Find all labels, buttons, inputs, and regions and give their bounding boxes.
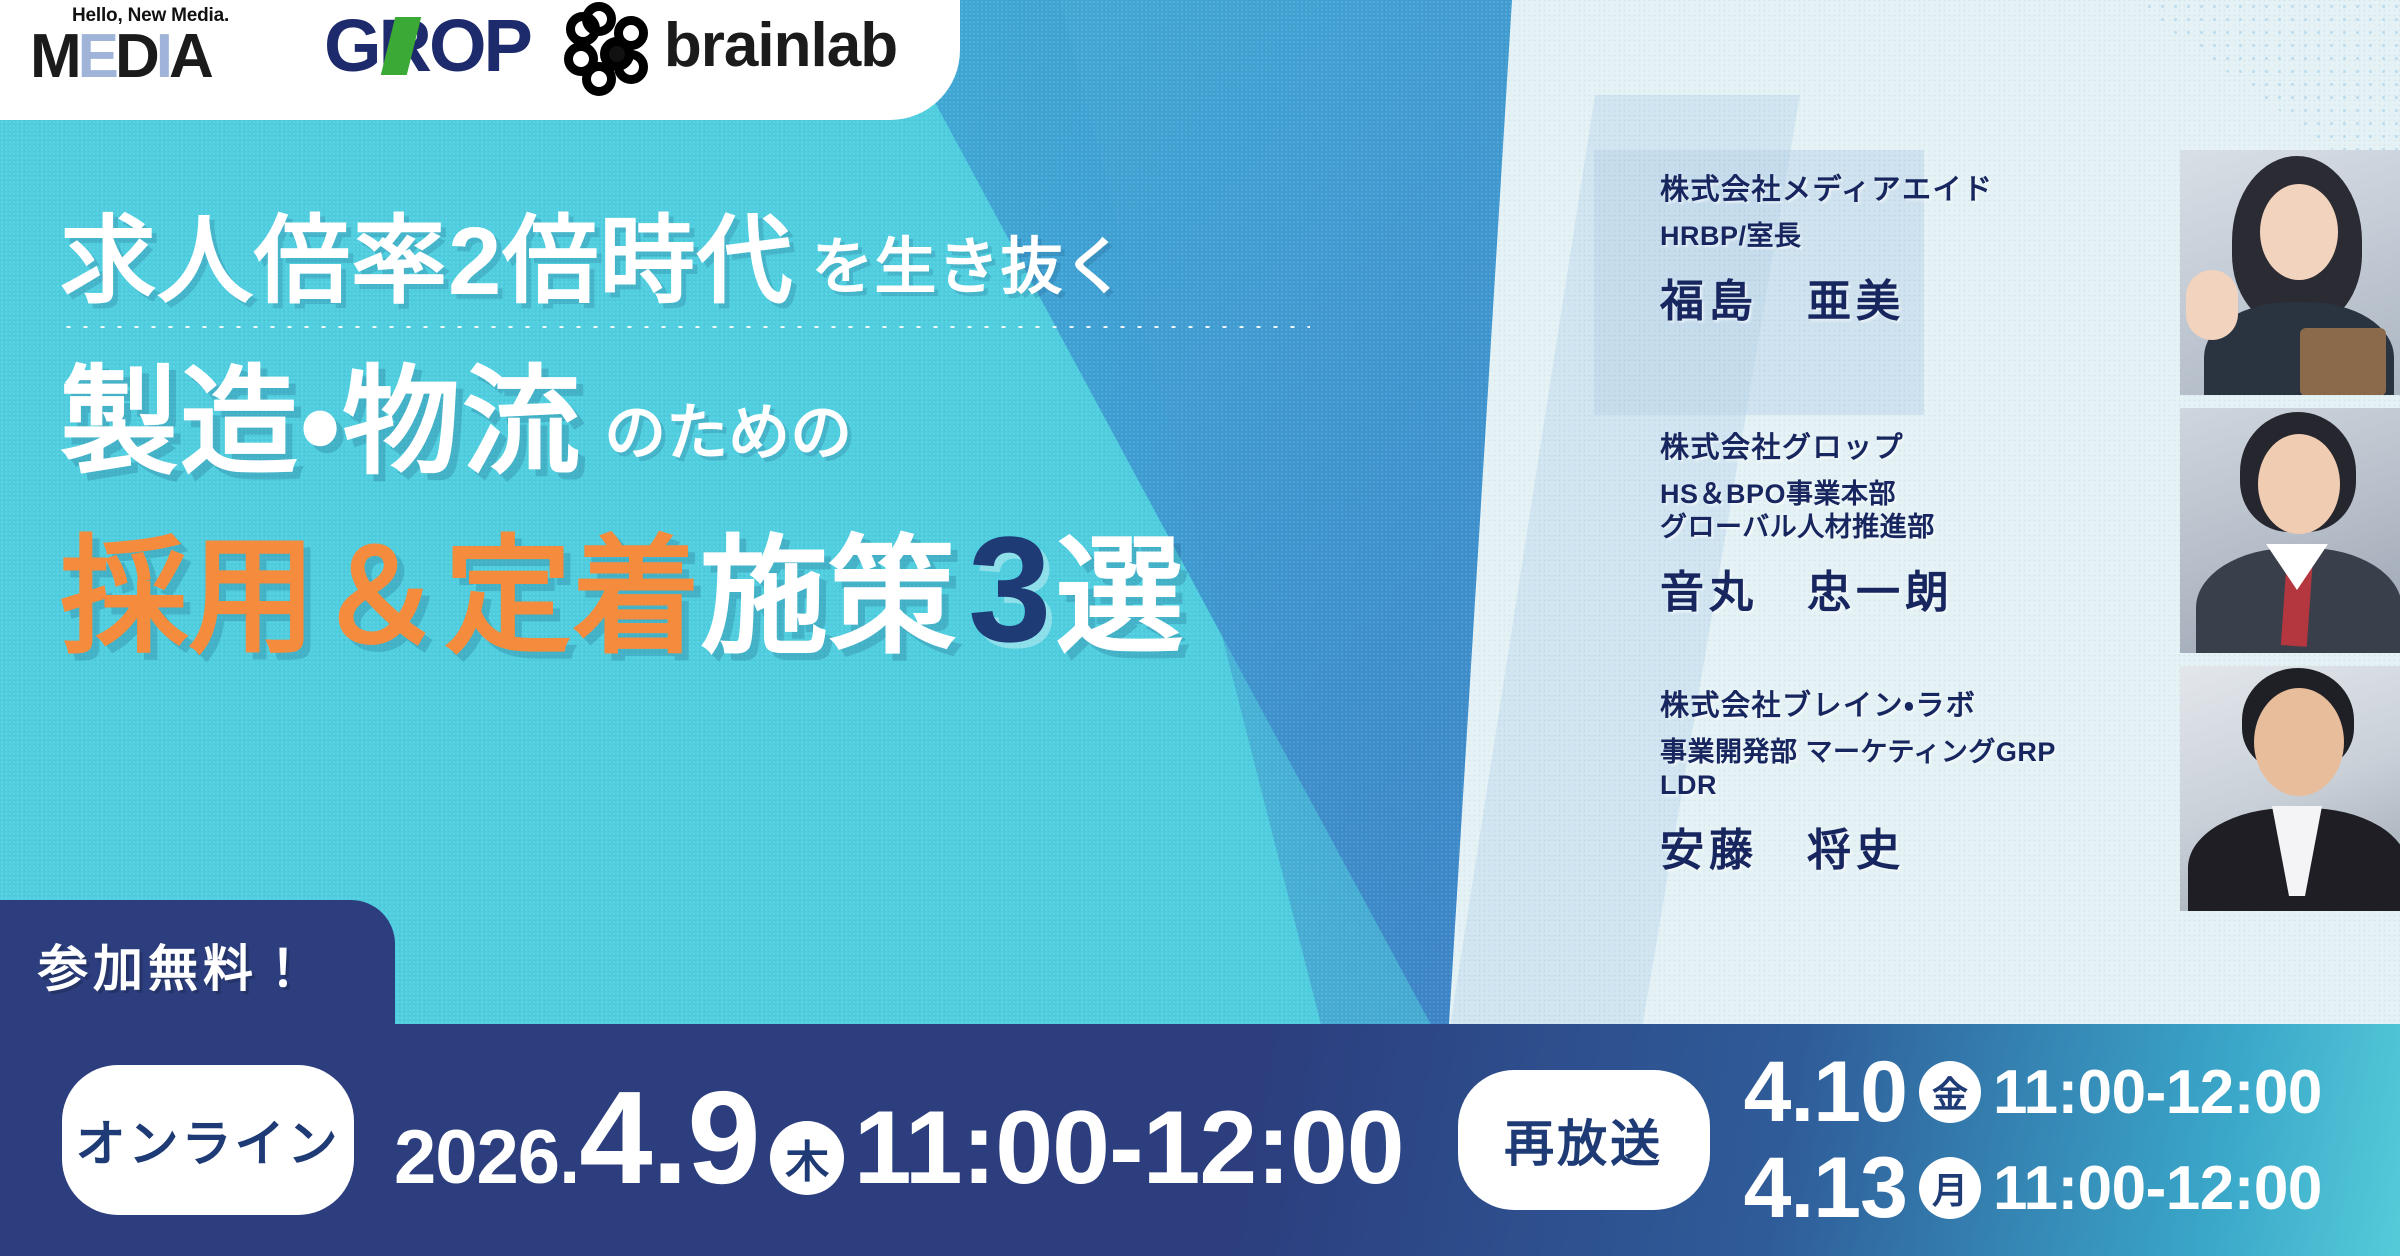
rerun-row-1: 4.10 金 11:00-12:00 [1744, 1044, 2322, 1140]
speaker-1-text: 株式会社メディアエイド HRBP/室長 福島 亜美 [1660, 166, 2130, 329]
speaker-1-clipboard [2300, 328, 2386, 395]
rerun-1-time: 11:00-12:00 [1993, 1057, 2322, 1128]
main-session-year: 2026. [394, 1114, 579, 1201]
rerun-1-date: 4.10 [1744, 1049, 1907, 1135]
speaker-2-text: 株式会社グロップ HS＆BPO事業本部 グローバル人材推進部 音丸 忠一朗 [1660, 424, 2130, 620]
speaker-3-role-line2: LDR [1660, 769, 2130, 802]
speaker-3-photo [2180, 666, 2400, 911]
speaker-3-text: 株式会社ブレイン・ラボ 事業開発部 マーケティングGRP LDR 安藤 将史 [1660, 682, 2130, 878]
grop-logo-text: GROP [324, 4, 530, 87]
speaker-1-hand [2186, 270, 2238, 340]
speaker-card-3: 株式会社ブレイン・ラボ 事業開発部 マーケティングGRP LDR 安藤 将史 [1650, 666, 2400, 924]
speaker-3-company: 株式会社ブレイン・ラボ [1660, 682, 2130, 724]
rerun-2-time: 11:00-12:00 [1993, 1153, 2322, 1224]
headline-line-1: 求人倍率2倍時代 を生き抜く [60, 210, 1480, 314]
headline-line-3: 採用＆定着 施策 3 選 [60, 514, 1480, 664]
speaker-2-role-line1: HS＆BPO事業本部 [1660, 478, 2130, 511]
brainlab-petal-red [564, 42, 598, 76]
dotted-underline [60, 324, 1310, 330]
webinar-banner: Hello, New Media. MEDIA GROP brainlab [0, 0, 2400, 1256]
brainlab-flower-icon [564, 2, 650, 88]
speaker-3-role-line1: 事業開発部 マーケティングGRP [1660, 736, 2130, 769]
rerun-2-date: 4.13 [1744, 1145, 1907, 1231]
media-aid-logo: Hello, New Media. MEDIA [30, 0, 290, 91]
speaker-card-2: 株式会社グロップ HS＆BPO事業本部 グローバル人材推進部 音丸 忠一朗 [1650, 408, 2400, 666]
headline-line3-orange: 採用＆定着 [60, 534, 700, 662]
speaker-1-company: 株式会社メディアエイド [1660, 166, 2130, 208]
speaker-card-1: 株式会社メディアエイド HRBP/室長 福島 亜美 [1650, 150, 2400, 408]
speaker-1-role: HRBP/室長 [1660, 220, 2130, 253]
headline-line-2: 製造・物流 のための [60, 364, 1480, 482]
speaker-2-name: 音丸 忠一朗 [1660, 556, 2130, 620]
main-session-date: 2026. 4.9 木 11:00-12:00 [394, 1072, 1404, 1208]
online-badge: オンライン [62, 1065, 354, 1215]
speaker-2-role-line2: グローバル人材推進部 [1660, 511, 2130, 544]
headline-block: 求人倍率2倍時代 を生き抜く 製造・物流 のための 採用＆定着 施策 3 選 [60, 210, 1480, 664]
headline-line3-tail: 選 [1055, 534, 1183, 662]
rerun-1-dayofweek: 金 [1919, 1061, 1981, 1123]
rerun-date-list: 4.10 金 11:00-12:00 4.13 月 11:00-12:00 [1744, 1044, 2322, 1236]
headline-line2-main: 製造・物流 [60, 364, 582, 482]
speaker-2-face [2258, 434, 2340, 534]
headline-line2-suffix: のための [604, 382, 852, 482]
headline-line1-suffix: を生き抜く [811, 216, 1126, 314]
grop-logo: GROP [324, 3, 530, 88]
media-logo-wordmark: MEDIA [30, 21, 210, 92]
speaker-1-photo [2180, 150, 2400, 395]
brainlab-center-dot [600, 37, 634, 71]
free-participation-label: 参加無料！ [38, 929, 313, 1001]
speaker-list: 株式会社メディアエイド HRBP/室長 福島 亜美 株式会社グロップ HS＆BP… [1650, 150, 2400, 924]
headline-line1-main: 求人倍率2倍時代 [60, 210, 793, 314]
free-participation-badge: 参加無料！ [0, 900, 395, 1030]
main-session-dayofweek: 木 [770, 1121, 844, 1195]
speaker-2-company: 株式会社グロップ [1660, 424, 2130, 466]
brainlab-petal-tan [566, 12, 600, 46]
main-session-monthday: 4.9 [579, 1072, 760, 1204]
speaker-1-face [2260, 184, 2338, 280]
speaker-3-face [2254, 688, 2344, 796]
rerun-badge: 再放送 [1458, 1070, 1710, 1210]
speaker-1-name: 福島 亜美 [1660, 265, 2130, 329]
headline-line3-white: 施策 [700, 534, 956, 662]
headline-line3-number: 3 [968, 514, 1051, 664]
rerun-badge-label: 再放送 [1504, 1104, 1663, 1176]
brainlab-logo-text: brainlab [664, 10, 897, 81]
speaker-2-photo [2180, 408, 2400, 653]
rerun-2-dayofweek: 月 [1919, 1157, 1981, 1219]
main-session-time: 11:00-12:00 [854, 1089, 1404, 1208]
logo-bar: Hello, New Media. MEDIA GROP brainlab [0, 0, 960, 120]
rerun-row-2: 4.13 月 11:00-12:00 [1744, 1140, 2322, 1236]
media-logo-text: MEDIA [30, 22, 210, 91]
schedule-bar: オンライン 2026. 4.9 木 11:00-12:00 再放送 4.10 金… [0, 1024, 2400, 1256]
brainlab-logo: brainlab [564, 2, 897, 88]
online-badge-label: オンライン [76, 1104, 341, 1176]
speaker-3-name: 安藤 将史 [1660, 814, 2130, 878]
